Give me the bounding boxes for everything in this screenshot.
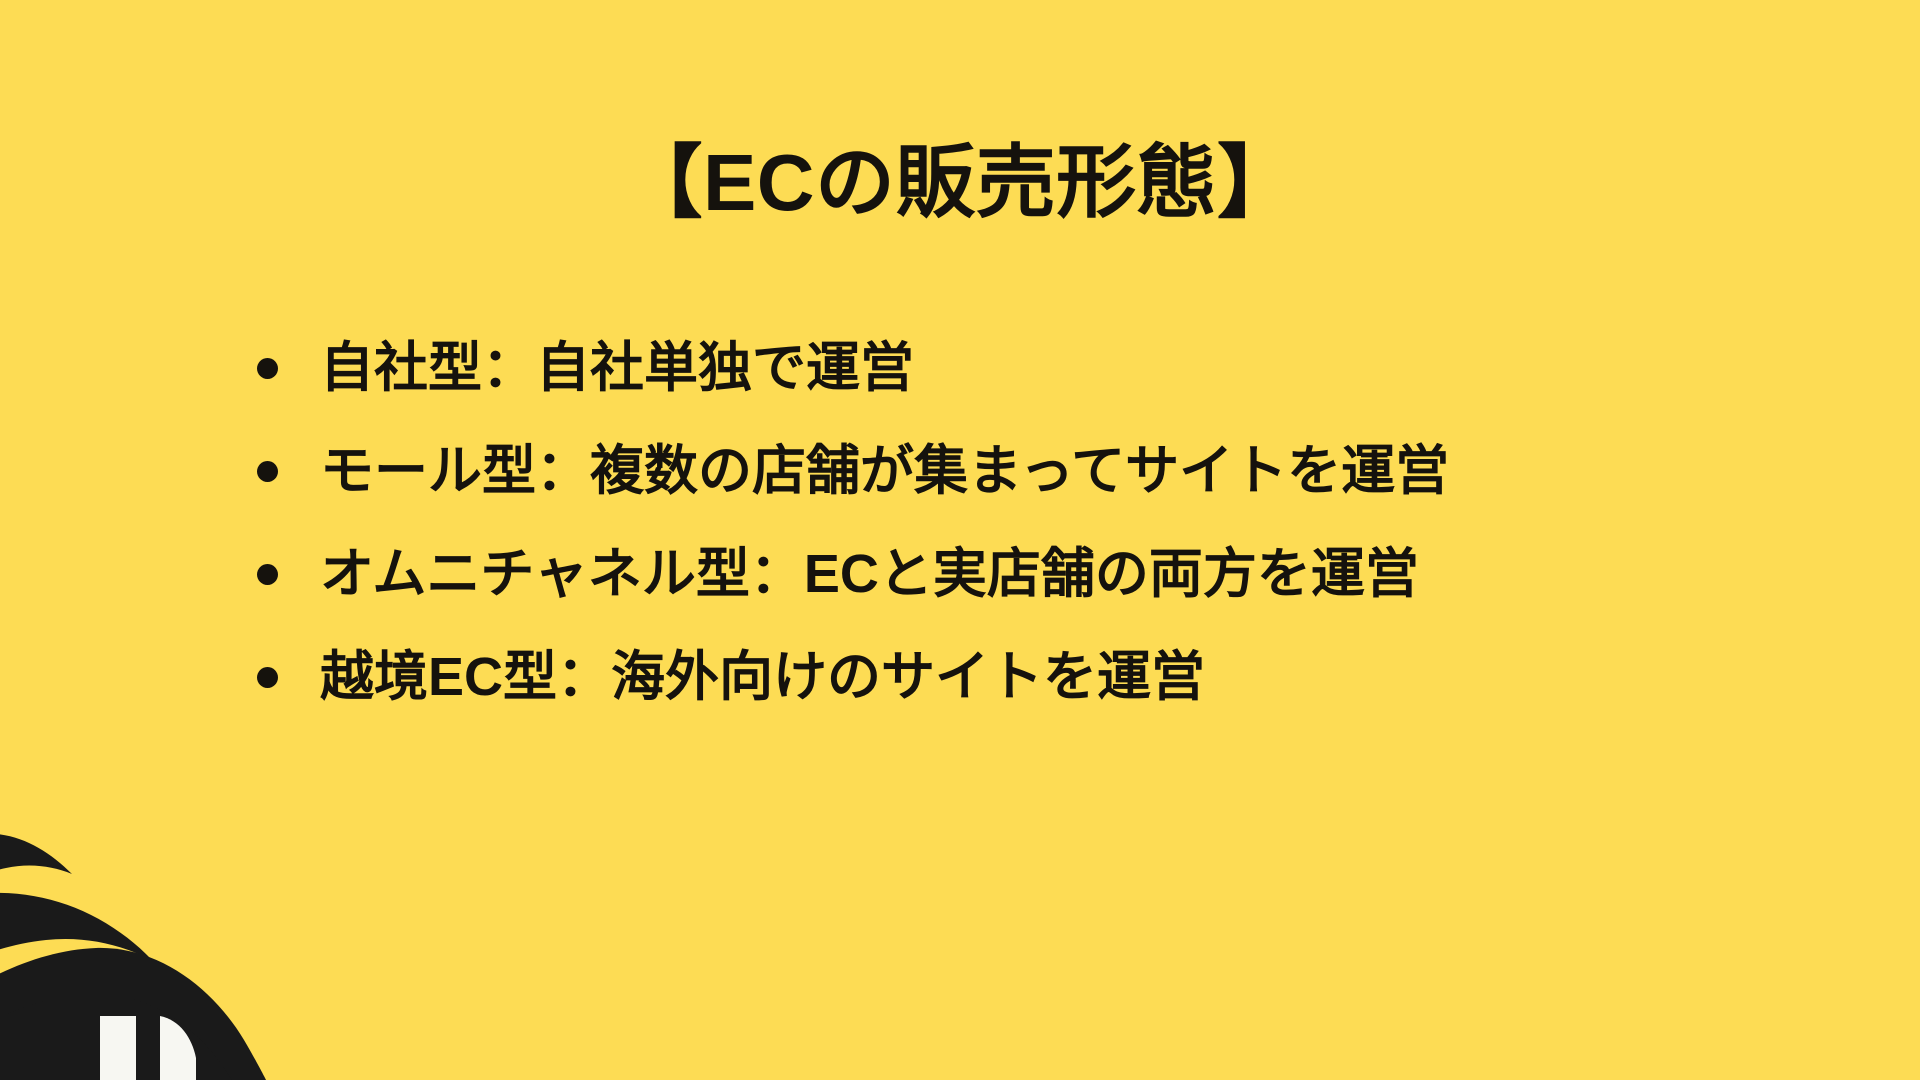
decor-striped-band	[0, 948, 266, 1080]
bullet-dot-icon	[257, 461, 278, 482]
list-item: モール型：複数の店舗が集まってサイトを運営	[246, 425, 1886, 517]
list-item: 自社型：自社単独で運営	[246, 322, 1886, 414]
list-item-label: オムニチャネル型：ECと実店舗の両方を運営	[320, 528, 1419, 620]
corner-decoration	[0, 660, 420, 1080]
decor-blade-large	[0, 893, 152, 966]
bullet-list: 自社型：自社単独で運営 モール型：複数の店舗が集まってサイトを運営 オムニチャネ…	[246, 322, 1886, 723]
list-item: オムニチャネル型：ECと実店舗の両方を運営	[246, 528, 1886, 620]
title-block: 【ECの販売形態】	[0, 86, 1920, 280]
list-item: 越境EC型：海外向けのサイトを運営	[246, 631, 1886, 723]
bullet-dot-icon	[257, 358, 278, 379]
list-item-label: モール型：複数の店舗が集まってサイトを運営	[320, 425, 1449, 517]
list-item-label: 自社型：自社単独で運営	[320, 322, 914, 414]
bullet-dot-icon	[257, 667, 278, 688]
list-item-label: 越境EC型：海外向けのサイトを運営	[320, 631, 1205, 723]
decor-blade-small	[0, 833, 72, 879]
slide-canvas: 【ECの販売形態】 自社型：自社単独で運営 モール型：複数の店舗が集まってサイト…	[0, 0, 1920, 1080]
bullet-dot-icon	[257, 564, 278, 585]
page-title: 【ECの販売形態】	[623, 140, 1298, 226]
